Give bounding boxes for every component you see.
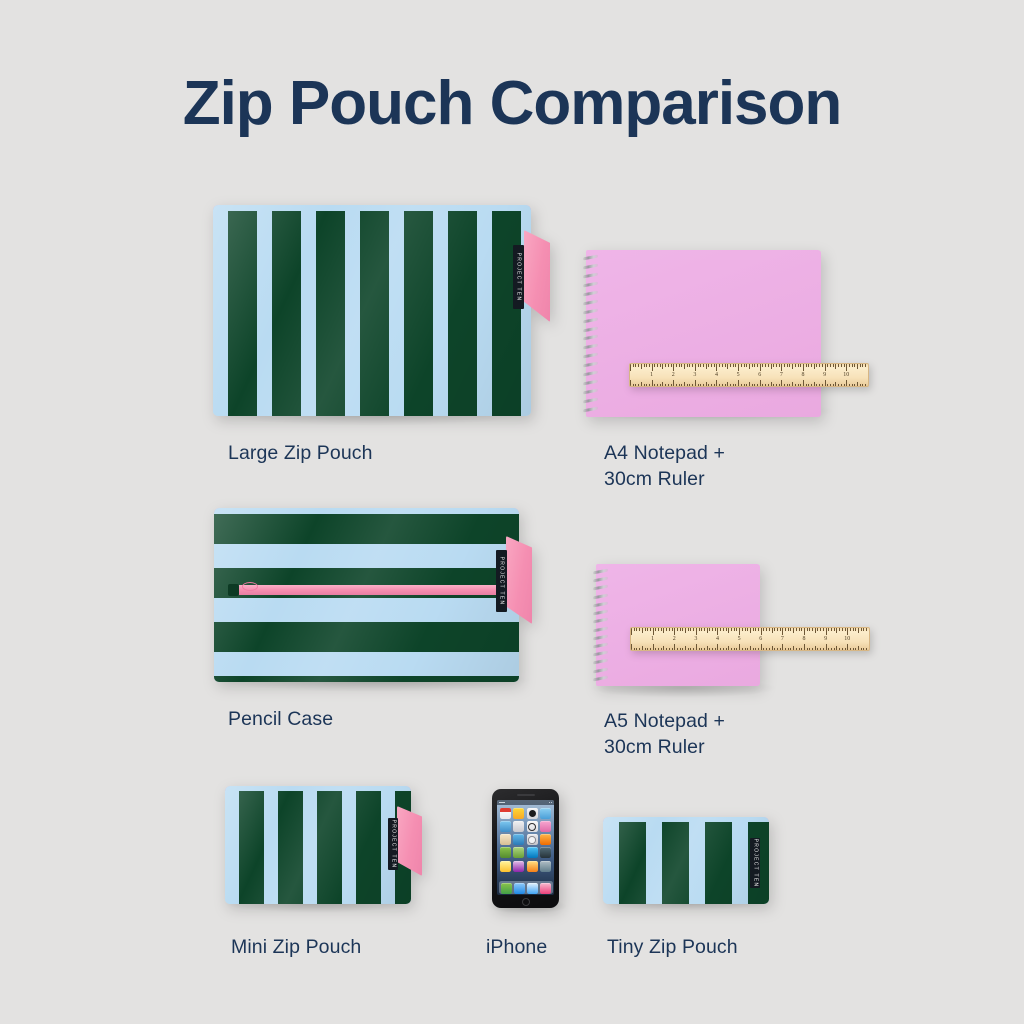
ruler-tick: [846, 380, 847, 386]
ruler-tick: [779, 364, 780, 367]
ruler-tick: [653, 628, 654, 635]
app-icon[interactable]: [513, 847, 524, 858]
ruler-tick: [668, 384, 669, 387]
app-icon[interactable]: [527, 808, 538, 819]
spiral-coil: [593, 601, 608, 607]
ruler-tick: [828, 648, 829, 651]
ruler-tick: [822, 364, 823, 367]
ruler-tick: [809, 648, 810, 651]
ruler-tick: [727, 364, 728, 369]
ruler-tick: [689, 364, 690, 367]
ruler-tick: [787, 384, 788, 387]
ruler-tick: [758, 628, 759, 631]
iphone-home-button[interactable]: [522, 898, 530, 906]
ruler-tick: [804, 644, 805, 650]
ruler-tick: [701, 628, 702, 631]
ruler-tick: [645, 648, 646, 651]
ruler-tick: [692, 364, 693, 367]
ruler-tick: [676, 364, 677, 367]
app-icon[interactable]: [513, 808, 524, 819]
ruler-tick: [662, 364, 663, 369]
ruler-tick: [845, 648, 846, 651]
app-icon[interactable]: [540, 861, 551, 872]
spiral-coil: [583, 380, 598, 386]
ruler-tick: [766, 628, 767, 631]
app-icon[interactable]: [500, 847, 511, 858]
app-icon[interactable]: [513, 821, 524, 832]
ruler-tick: [866, 648, 867, 651]
ruler-tick: [631, 628, 632, 635]
ruler-tick: [765, 384, 766, 387]
pencil-case-zipper-stop-left: [228, 584, 239, 596]
ruler-number: 3: [694, 636, 697, 642]
spiral-coil: [583, 398, 598, 404]
app-icon[interactable]: [527, 821, 538, 832]
iphone[interactable]: [492, 789, 559, 908]
pencil-case-zipper-pull[interactable]: [242, 582, 258, 591]
ruler-tick: [650, 648, 651, 651]
ruler-tick: [758, 648, 759, 651]
ruler-tick: [682, 648, 683, 651]
ruler-tick: [825, 364, 826, 371]
ruler-tick: [709, 648, 710, 651]
ruler-tick: [653, 644, 654, 650]
ruler-tick: [779, 384, 780, 387]
app-icon[interactable]: [527, 861, 538, 872]
ruler-tick: [692, 384, 693, 387]
ruler-tick: [782, 644, 783, 650]
ruler-tick: [646, 384, 647, 387]
ruler-tick: [868, 364, 869, 371]
ruler-tick: [745, 648, 746, 651]
ruler-tick: [803, 380, 804, 386]
spiral-coil: [593, 569, 608, 575]
ruler-tick: [780, 648, 781, 651]
ruler-tick: [646, 364, 647, 367]
app-icon[interactable]: [527, 834, 538, 845]
ruler-tick: [784, 364, 785, 367]
a4-notepad[interactable]: [586, 250, 821, 417]
iphone-screen[interactable]: [497, 800, 554, 895]
large-pouch-brand-label: PROJECT TEN: [513, 245, 524, 309]
spiral-coil: [583, 362, 598, 368]
ruler-tick: [693, 628, 694, 631]
ruler-tick: [836, 628, 837, 633]
ruler-tick: [742, 628, 743, 631]
ruler-tick: [719, 384, 720, 387]
ruler-tick: [660, 364, 661, 367]
app-icon[interactable]: [540, 834, 551, 845]
ruler-tick: [788, 648, 789, 651]
ruler-tick: [839, 628, 840, 631]
ruler-tick: [716, 380, 717, 386]
app-icon[interactable]: [540, 847, 551, 858]
ruler-tick: [704, 648, 705, 651]
ruler-tick: [661, 648, 662, 651]
ruler-tick: [823, 628, 824, 631]
ruler-tick: [712, 628, 713, 631]
ruler-tick: [719, 364, 720, 367]
ruler-tick: [868, 380, 869, 386]
ruler-tick: [734, 628, 735, 631]
ruler-tick: [808, 384, 809, 387]
ruler-tick: [641, 382, 642, 386]
ruler-tick: [639, 628, 640, 631]
spiral-coil: [583, 353, 598, 359]
ruler-tick: [811, 364, 812, 367]
ruler-tick: [708, 364, 709, 367]
ruler-tick: [746, 384, 747, 387]
ruler-tick: [712, 648, 713, 651]
ruler-tick: [666, 648, 667, 651]
ruler-tick: [638, 384, 639, 387]
a5-notepad[interactable]: [596, 564, 760, 686]
ruler-tick: [731, 648, 732, 651]
ruler-tick: [669, 648, 670, 651]
ruler-tick: [672, 628, 673, 631]
ruler-number: 6: [759, 636, 762, 642]
ruler-tick: [654, 364, 655, 367]
ruler-tick: [690, 648, 691, 651]
caption-a5-notepad: A5 Notepad + 30cm Ruler: [604, 708, 725, 760]
ruler-tick: [673, 380, 674, 386]
ruler-tick: [666, 628, 667, 631]
ruler-tick: [747, 648, 748, 651]
ruler-number: 9: [824, 636, 827, 642]
ruler-tick: [641, 364, 642, 369]
ruler-tick: [698, 364, 699, 367]
ruler-tick: [760, 364, 761, 371]
status-battery-icon: [549, 802, 553, 804]
ruler-tick: [812, 648, 813, 651]
ruler-tick: [862, 384, 863, 387]
ruler-tick: [693, 648, 694, 651]
ruler-tick: [781, 364, 782, 371]
ruler-tick: [854, 364, 855, 367]
ruler-tick: [715, 648, 716, 651]
ruler-tick: [766, 648, 767, 651]
brand-label-text: PROJECT TEN: [499, 557, 505, 606]
ruler-number: 8: [801, 372, 804, 378]
ruler-tick: [822, 384, 823, 387]
ruler-tick: [706, 364, 707, 369]
dock-icon-mail[interactable]: [514, 883, 525, 894]
ruler-tick: [742, 648, 743, 651]
ruler-tick: [800, 384, 801, 387]
ruler-tick: [633, 384, 634, 387]
ruler-tick: [806, 364, 807, 367]
ruler-tick: [808, 364, 809, 367]
ruler-tick: [792, 364, 793, 369]
ruler-tick: [850, 648, 851, 651]
ruler-tick: [695, 364, 696, 371]
ruler-tick: [677, 628, 678, 631]
ruler-tick: [847, 644, 848, 650]
ruler-tick: [773, 384, 774, 387]
ruler-tick: [809, 628, 810, 631]
ruler-tick: [776, 364, 777, 367]
ruler-tick: [635, 364, 636, 367]
tiny-pouch-stripes: [603, 822, 769, 904]
ruler-tick: [861, 648, 862, 651]
dock-icon-safari[interactable]: [527, 883, 538, 894]
a4-row-ruler[interactable]: 12345678910: [629, 363, 869, 387]
ruler-tick: [841, 364, 842, 367]
ruler-tick: [633, 364, 634, 367]
spiral-coil: [593, 610, 608, 616]
ruler-tick: [671, 384, 672, 387]
ruler-tick: [662, 382, 663, 386]
ruler-tick: [772, 628, 773, 633]
ruler-tick: [776, 384, 777, 387]
ruler-tick: [671, 364, 672, 367]
ruler-tick: [726, 628, 727, 631]
ruler-tick: [857, 382, 858, 386]
ruler-tick: [838, 364, 839, 367]
caption-a4-notepad: A4 Notepad + 30cm Ruler: [604, 440, 725, 492]
ruler-tick: [750, 646, 751, 650]
dock-icon-music[interactable]: [540, 883, 551, 894]
ruler-number: 10: [844, 636, 850, 642]
tiny-zip-pouch[interactable]: PROJECT TEN: [603, 817, 769, 904]
ruler-tick: [660, 384, 661, 387]
pencil-case[interactable]: PROJECT TEN: [214, 508, 519, 682]
ruler-tick: [695, 380, 696, 386]
ruler-tick: [663, 628, 664, 633]
ruler-tick: [790, 648, 791, 651]
ruler-tick: [754, 364, 755, 367]
caption-iphone: iPhone: [486, 934, 547, 960]
ruler-tick: [769, 628, 770, 631]
ruler-number: 1: [650, 372, 653, 378]
app-icon[interactable]: [500, 834, 511, 845]
ruler-tick: [862, 364, 863, 367]
ruler-tick: [652, 380, 653, 386]
ruler-tick: [703, 384, 704, 387]
mini-pouch-body: [225, 786, 411, 904]
ruler-tick: [755, 648, 756, 651]
ruler-tick: [819, 364, 820, 367]
ruler-tick: [819, 384, 820, 387]
ruler-tick: [768, 364, 769, 367]
ruler-tick: [746, 364, 747, 367]
ruler-tick: [630, 364, 631, 371]
ruler-tick: [735, 384, 736, 387]
pencil-case-stripes: [214, 514, 519, 682]
ruler-tick: [812, 628, 813, 631]
ruler-tick: [730, 384, 731, 387]
app-icon[interactable]: [527, 847, 538, 858]
spiral-coil: [593, 585, 608, 591]
ruler-tick: [631, 644, 632, 650]
ruler-tick: [789, 364, 790, 367]
ruler-tick: [728, 646, 729, 650]
ruler-tick: [636, 648, 637, 651]
ruler-tick: [820, 628, 821, 631]
ruler-tick: [833, 384, 834, 387]
ruler-tick: [785, 648, 786, 651]
status-signal-icon: [499, 802, 505, 804]
ruler-tick: [790, 628, 791, 631]
ruler-tick: [717, 644, 718, 650]
ruler-tick: [827, 364, 828, 367]
ruler-tick: [787, 364, 788, 367]
ruler-tick: [655, 628, 656, 631]
ruler-tick: [825, 380, 826, 386]
app-icon[interactable]: [500, 861, 511, 872]
spiral-coil: [583, 389, 598, 395]
mini-zip-pouch[interactable]: PROJECT TEN: [225, 786, 411, 904]
ruler-tick: [673, 364, 674, 371]
spiral-coil: [583, 272, 598, 278]
ruler-tick: [755, 628, 756, 631]
ruler-tick: [741, 364, 742, 367]
app-icon[interactable]: [513, 861, 524, 872]
app-icon[interactable]: [500, 808, 511, 819]
ruler-tick: [674, 644, 675, 650]
brand-label-text: PROJECT TEN: [516, 253, 522, 302]
ruler-tick: [807, 648, 808, 651]
spiral-coil: [583, 299, 598, 305]
ruler-tick: [645, 628, 646, 631]
ruler-tick: [853, 628, 854, 631]
ruler-tick: [669, 628, 670, 631]
ruler-tick: [795, 384, 796, 387]
ruler-tick: [700, 384, 701, 387]
a5-ruler-ticks: 12345678910: [631, 628, 869, 650]
spiral-coil: [593, 577, 608, 583]
ruler-tick: [649, 364, 650, 367]
a5-row-ruler[interactable]: 12345678910: [630, 627, 870, 651]
ruler-tick: [826, 628, 827, 635]
spiral-coil: [593, 634, 608, 640]
ruler-tick: [844, 384, 845, 387]
ruler-tick: [658, 648, 659, 651]
comparison-infographic: Zip Pouch Comparison PROJECT TEN Large Z…: [0, 0, 1024, 1024]
ruler-tick: [736, 628, 737, 631]
ruler-tick: [827, 384, 828, 387]
spiral-coil: [593, 667, 608, 673]
ruler-tick: [796, 648, 797, 651]
pencil-case-front-pocket-zipper[interactable]: [236, 585, 501, 595]
ruler-tick: [826, 644, 827, 650]
ruler-tick: [771, 364, 772, 369]
app-icon[interactable]: [500, 821, 511, 832]
ruler-number: 6: [758, 372, 761, 378]
ruler-tick: [814, 382, 815, 386]
ruler-tick: [707, 628, 708, 633]
spiral-coil: [583, 281, 598, 287]
ruler-tick: [749, 364, 750, 369]
ruler-tick: [788, 628, 789, 631]
large-pouch-stripes: [213, 211, 531, 416]
ruler-tick: [642, 628, 643, 633]
spiral-coil: [583, 308, 598, 314]
dock-icon-phone[interactable]: [501, 883, 512, 894]
ruler-tick: [807, 628, 808, 631]
iphone-app-grid[interactable]: [497, 805, 554, 874]
ruler-tick: [636, 628, 637, 631]
ruler-tick: [676, 384, 677, 387]
ruler-tick: [735, 364, 736, 367]
ruler-tick: [853, 648, 854, 651]
iphone-dock[interactable]: [499, 881, 553, 894]
ruler-tick: [730, 364, 731, 367]
ruler-number: 7: [781, 636, 784, 642]
a5-notepad-spiral-binding: [592, 570, 608, 680]
ruler-tick: [731, 628, 732, 631]
ruler-tick: [834, 648, 835, 651]
ruler-tick: [801, 628, 802, 631]
ruler-tick: [815, 628, 816, 633]
ruler-tick: [747, 628, 748, 631]
spiral-coil: [593, 626, 608, 632]
ruler-tick: [852, 384, 853, 387]
ruler-tick: [815, 646, 816, 650]
ruler-tick: [684, 382, 685, 386]
ruler-tick: [816, 384, 817, 387]
ruler-tick: [696, 628, 697, 635]
ruler-tick: [796, 628, 797, 631]
ruler-tick: [762, 364, 763, 367]
ruler-tick: [865, 384, 866, 387]
iphone-earpiece: [517, 794, 535, 796]
ruler-tick: [798, 384, 799, 387]
ruler-tick: [738, 380, 739, 386]
ruler-tick: [720, 648, 721, 651]
ruler-tick: [725, 364, 726, 367]
ruler-tick: [752, 384, 753, 387]
app-icon[interactable]: [513, 834, 524, 845]
ruler-tick: [852, 364, 853, 367]
ruler-tick: [803, 364, 804, 371]
ruler-tick: [849, 384, 850, 387]
ruler-tick: [789, 384, 790, 387]
ruler-tick: [761, 628, 762, 635]
ruler-tick: [798, 364, 799, 367]
mini-pouch-brand-label: PROJECT TEN: [388, 818, 398, 870]
ruler-tick: [835, 382, 836, 386]
ruler-tick: [689, 384, 690, 387]
a4-notepad-page: [586, 250, 821, 417]
ruler-tick: [839, 648, 840, 651]
ruler-tick: [679, 364, 680, 367]
ruler-tick: [801, 648, 802, 651]
ruler-tick: [838, 384, 839, 387]
spiral-coil: [583, 290, 598, 296]
ruler-tick: [850, 628, 851, 631]
ruler-tick: [855, 648, 856, 651]
spiral-coil: [583, 326, 598, 332]
ruler-tick: [772, 646, 773, 650]
app-icon[interactable]: [540, 821, 551, 832]
ruler-tick: [720, 628, 721, 631]
ruler-tick: [774, 648, 775, 651]
ruler-tick: [860, 364, 861, 367]
ruler-tick: [714, 384, 715, 387]
app-icon[interactable]: [540, 808, 551, 819]
ruler-tick: [820, 648, 821, 651]
caption-pencil-case: Pencil Case: [228, 706, 333, 732]
ruler-number: 2: [673, 636, 676, 642]
ruler-number: 5: [737, 372, 740, 378]
ruler-tick: [715, 628, 716, 631]
ruler-tick: [860, 384, 861, 387]
ruler-number: 2: [672, 372, 675, 378]
ruler-tick: [831, 648, 832, 651]
ruler-tick: [861, 628, 862, 631]
large-zip-pouch[interactable]: PROJECT TEN: [213, 205, 531, 416]
